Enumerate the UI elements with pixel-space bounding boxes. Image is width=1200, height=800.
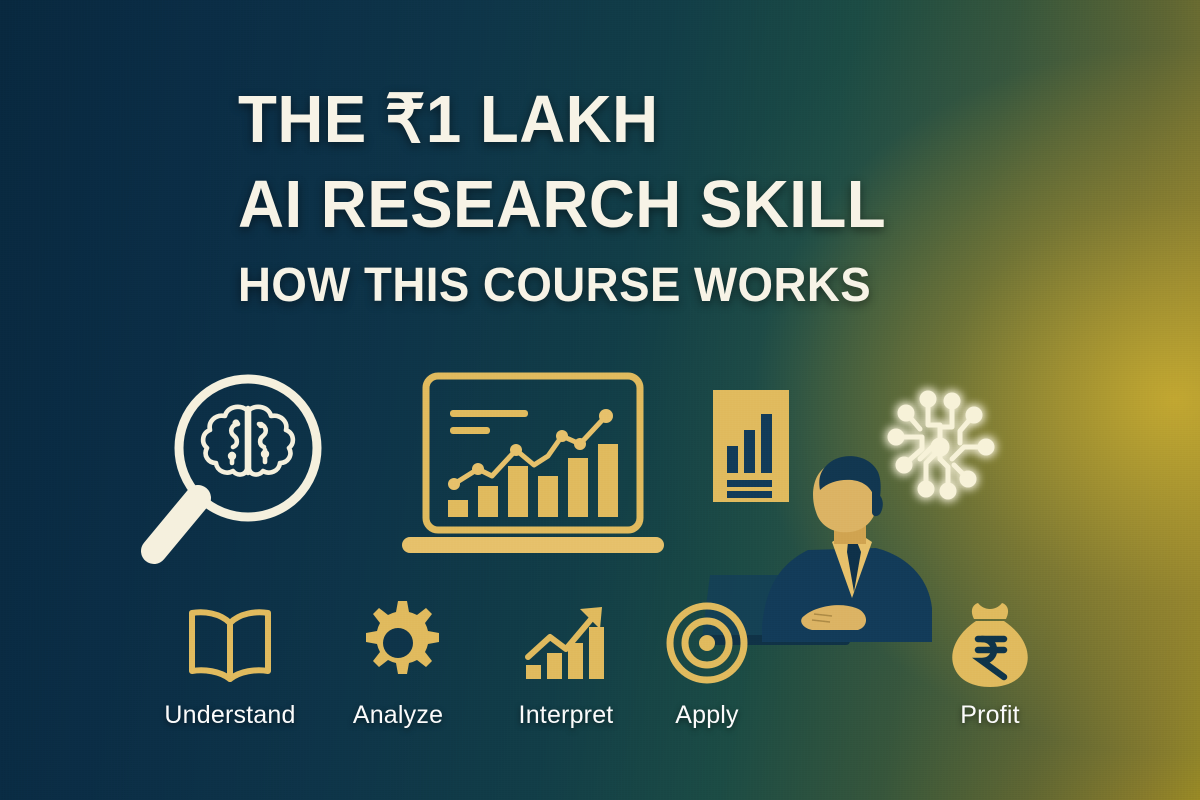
step-label: Analyze <box>313 701 483 730</box>
money-bag-rupee-icon <box>905 595 1075 691</box>
target-icon <box>622 595 792 691</box>
step-label: Understand <box>145 701 315 730</box>
step-analyze[interactable]: Analyze <box>313 595 483 730</box>
step-label: Profit <box>905 701 1075 730</box>
step-understand[interactable]: Understand <box>145 595 315 730</box>
poster-subtitle: HOW THIS COURSE WORKS <box>238 262 1017 310</box>
title-block: THE ₹1 LAKH AI RESEARCH SKILL HOW THIS C… <box>238 86 1058 310</box>
process-steps-row: Understand Analyze <box>0 595 1200 770</box>
magnifier-brain-icon <box>128 368 334 566</box>
title-line-2: AI RESEARCH SKILL <box>238 171 1017 238</box>
step-profit[interactable]: Profit <box>905 595 1075 730</box>
title-line-1: THE ₹1 LAKH <box>238 86 1017 153</box>
laptop-analytics-icon <box>400 372 666 562</box>
open-book-icon <box>145 595 315 691</box>
step-label: Apply <box>622 701 792 730</box>
step-apply[interactable]: Apply <box>622 595 792 730</box>
gear-icon <box>313 595 483 691</box>
poster-canvas: THE ₹1 LAKH AI RESEARCH SKILL HOW THIS C… <box>0 0 1200 800</box>
